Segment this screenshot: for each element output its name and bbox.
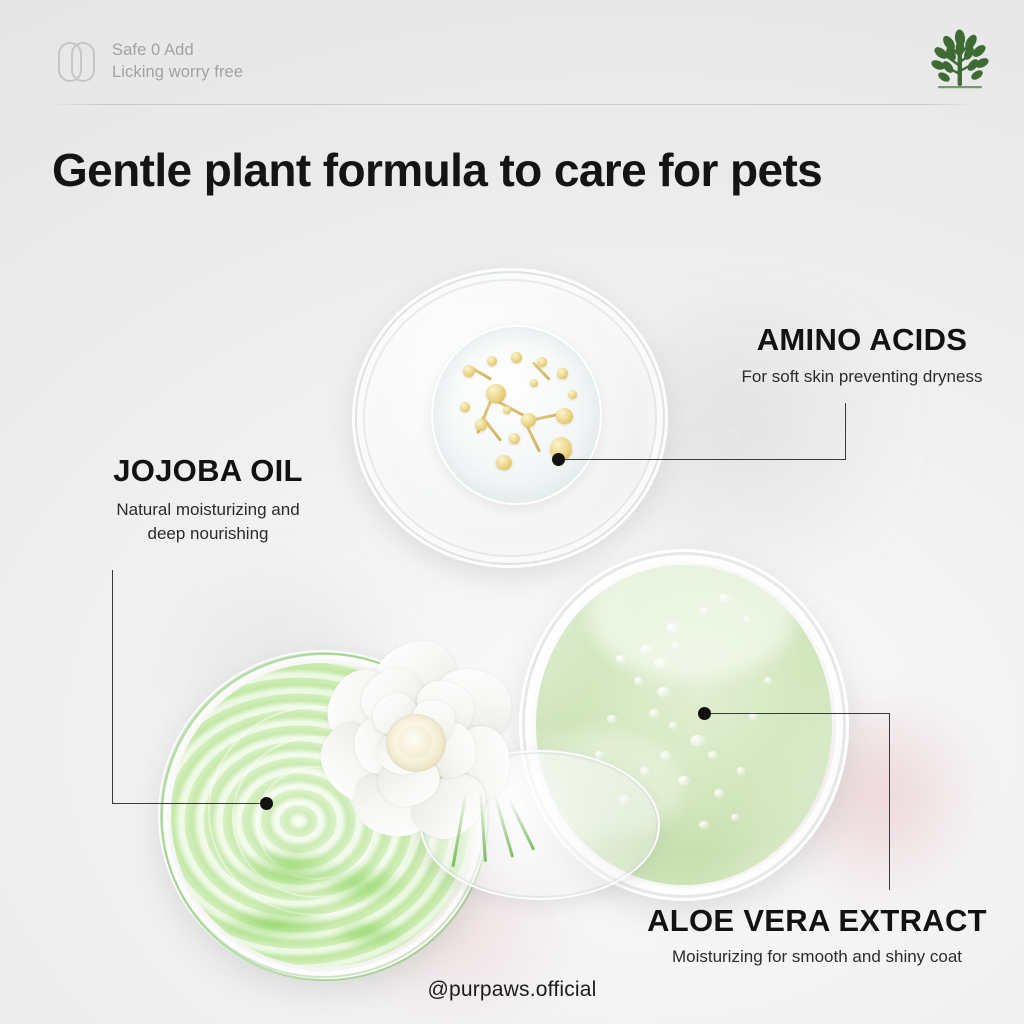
callout-jojoba-oil: JOJOBA OIL Natural moisturizing and deep…	[58, 453, 358, 546]
product-ingredient-poster: Safe 0 Add Licking worry free	[0, 0, 1024, 1024]
leader-line-aloe-vertical	[889, 713, 890, 890]
callout-amino-title: AMINO ACIDS	[712, 322, 1012, 358]
leader-line-jojoba-horizontal	[112, 803, 266, 804]
safety-badge-line1: Safe 0 Add	[112, 40, 243, 62]
marker-dot-aloe	[698, 707, 711, 720]
page-title: Gentle plant formula to care for pets	[52, 143, 982, 197]
safety-badge: Safe 0 Add Licking worry free	[58, 40, 243, 84]
leader-line-jojoba-vertical	[112, 570, 113, 804]
safety-badge-text: Safe 0 Add Licking worry free	[112, 40, 243, 84]
callout-aloe-title: ALOE VERA EXTRACT	[622, 903, 1012, 939]
plant-tree-logo	[924, 26, 996, 94]
callout-jojoba-desc-line2: deep nourishing	[58, 522, 358, 546]
marker-dot-jojoba	[260, 797, 273, 810]
header-divider	[46, 104, 978, 105]
capsule-pair-icon	[58, 41, 98, 83]
callout-jojoba-desc-line1: Natural moisturizing and	[58, 498, 358, 522]
callout-amino-desc: For soft skin preventing dryness	[712, 367, 1012, 387]
callout-jojoba-title: JOJOBA OIL	[58, 453, 358, 489]
leader-line-aloe-horizontal	[710, 713, 890, 714]
marker-dot-amino	[552, 453, 565, 466]
leader-line-amino-vertical	[845, 403, 846, 460]
callout-aloe-vera: ALOE VERA EXTRACT Moisturizing for smoot…	[622, 903, 1012, 967]
callout-jojoba-desc: Natural moisturizing and deep nourishing	[58, 498, 358, 546]
safety-badge-line2: Licking worry free	[112, 62, 243, 84]
callout-aloe-desc: Moisturizing for smooth and shiny coat	[622, 947, 1012, 967]
petri-dish-amino-acids	[352, 268, 668, 568]
flower-stem	[455, 790, 525, 870]
callout-amino-acids: AMINO ACIDS For soft skin preventing dry…	[712, 322, 1012, 387]
social-handle: @purpaws.official	[0, 978, 1024, 1002]
header: Safe 0 Add Licking worry free	[0, 0, 1024, 112]
amino-inner-disc	[431, 325, 602, 505]
leader-line-amino-horizontal	[564, 459, 846, 460]
